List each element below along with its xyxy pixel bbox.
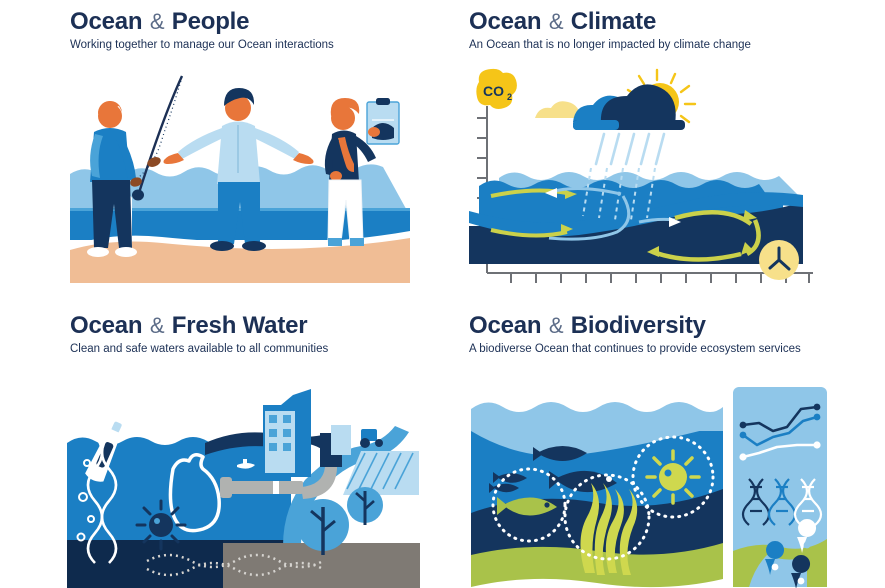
panel-title-main: Ocean: [469, 8, 541, 35]
co2-badge: CO 2: [476, 69, 517, 109]
fishing-reel: [132, 190, 144, 201]
center-shoe-right: [242, 241, 266, 251]
freshwater-scene-illustration: [65, 385, 420, 588]
panel-title-ampersand: &: [548, 9, 564, 34]
panel-subtitle: A biodiverse Ocean that continues to pro…: [469, 343, 801, 355]
co2-label: CO: [483, 83, 504, 99]
center-shoe-left: [210, 241, 234, 251]
center-arm-left: [178, 128, 225, 159]
beach-scene-illustration: [70, 68, 410, 283]
cloud-icon: [532, 84, 685, 130]
panel-people-header: Ocean & People Working together to manag…: [70, 8, 334, 51]
panel-title-main: Ocean: [469, 312, 541, 339]
x-axis-ticks: [511, 273, 809, 283]
cloud-navy: [601, 84, 676, 124]
fisherman-shoe-left: [87, 247, 109, 257]
panel-biodiversity-title: Ocean & Biodiversity: [469, 312, 801, 340]
clock-badge: [759, 240, 799, 280]
panel-title-main: Ocean: [70, 312, 142, 339]
biodiversity-scene-illustration: [467, 387, 827, 587]
microbe-icon-green: [647, 451, 699, 503]
panel-ocean-and-people: Ocean & People Working together to manag…: [0, 0, 443, 295]
panel-climate-header: Ocean & Climate An Ocean that is no long…: [469, 8, 751, 51]
infographic-page: Ocean & People Working together to manag…: [0, 0, 885, 588]
page-title: Ocean & People: [70, 8, 334, 36]
fisherman-shoe-right: [115, 247, 137, 257]
panel-title-rest: Fresh Water: [172, 312, 308, 339]
rain-icon: [596, 134, 664, 164]
center-arm-right: [252, 128, 299, 159]
panel-title-ampersand: &: [149, 9, 165, 34]
panel-subtitle: An Ocean that is no longer impacted by c…: [469, 39, 751, 51]
scientist-shoe-right: [350, 238, 364, 246]
panel-ocean-and-biodiversity: Ocean & Biodiversity A biodiverse Ocean …: [443, 295, 885, 588]
panel-biodiversity-header: Ocean & Biodiversity A biodiverse Ocean …: [469, 312, 801, 355]
panel-title-ampersand: &: [149, 313, 165, 338]
scientist-hand-right: [368, 127, 380, 137]
panel-title-rest: People: [172, 8, 250, 35]
panel-climate-title: Ocean & Climate: [469, 8, 751, 36]
data-panel: [733, 387, 827, 588]
panel-title-rest: Biodiversity: [571, 312, 706, 339]
tree-icon-small: [347, 487, 383, 525]
co2-subscript: 2: [507, 92, 512, 102]
clipboard-icon: [367, 98, 399, 144]
microbe-icon: [137, 501, 185, 549]
panel-title-ampersand: &: [548, 313, 564, 338]
small-cloud-icon: [532, 101, 580, 118]
panel-ocean-and-climate: Ocean & Climate An Ocean that is no long…: [443, 0, 885, 295]
panel-subtitle: Clean and safe waters available to all c…: [70, 343, 328, 355]
panel-freshwater-header: Ocean & Fresh Water Clean and safe water…: [70, 312, 328, 355]
panel-ocean-and-fresh-water: Ocean & Fresh Water Clean and safe water…: [0, 295, 443, 588]
scientist-shoe-left: [328, 238, 342, 246]
fish-eye: [606, 476, 612, 482]
cloud-base-blue: [573, 120, 619, 130]
panel-freshwater-title: Ocean & Fresh Water: [70, 312, 328, 340]
panel-subtitle: Working together to manage our Ocean int…: [70, 39, 334, 51]
clipboard-clip: [376, 98, 390, 105]
building-icon: [263, 389, 351, 477]
panel-title-rest: Climate: [571, 8, 656, 35]
climate-diagram-illustration: CO 2: [461, 68, 821, 286]
panel-title-main: Ocean: [70, 8, 142, 35]
